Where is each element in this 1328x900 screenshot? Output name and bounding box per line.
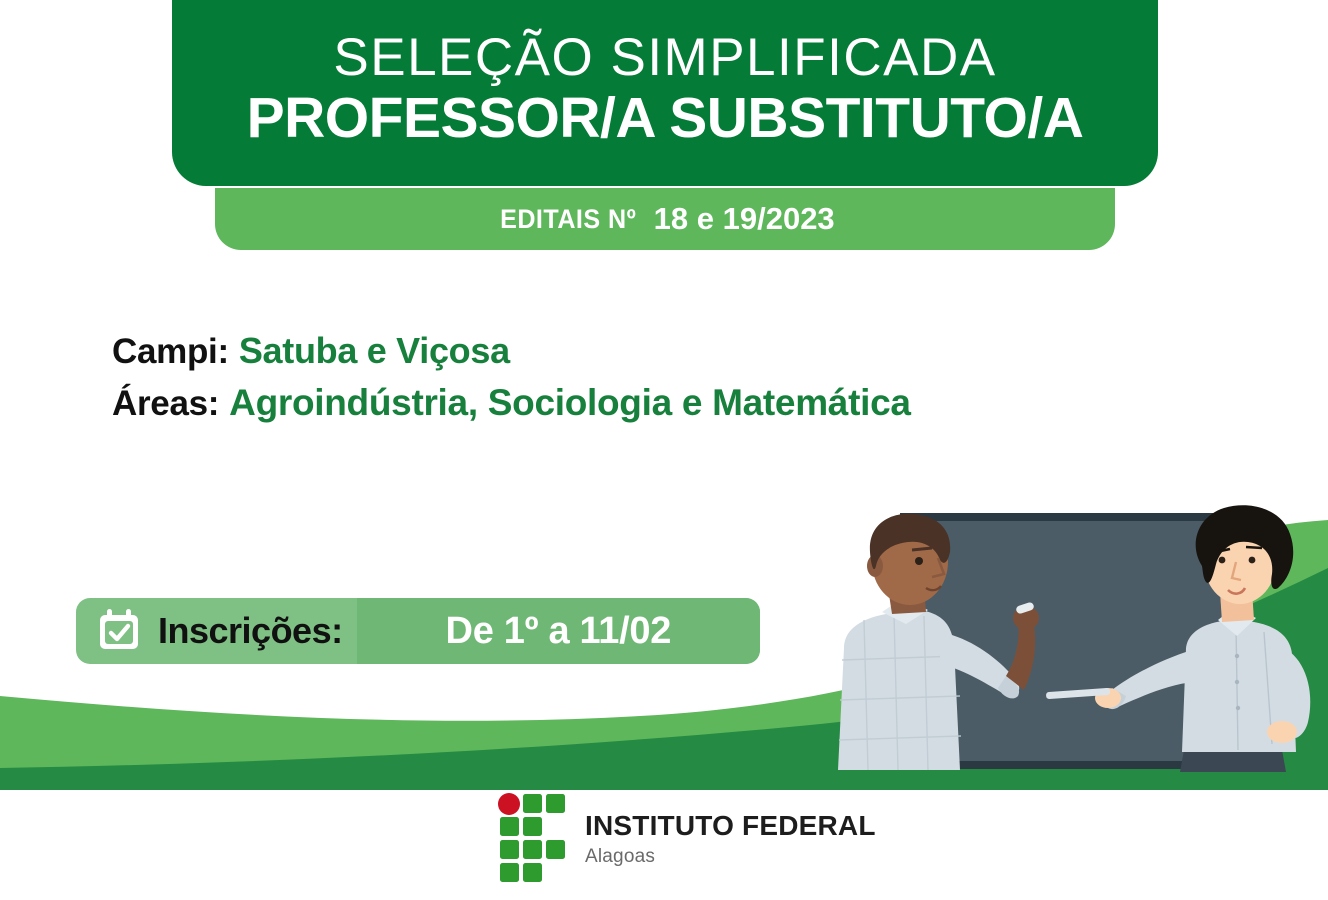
logo-red-dot (498, 793, 520, 815)
areas-label: Áreas: (112, 384, 219, 424)
female-hip-hand (1267, 721, 1297, 743)
editais-number: 18 e 19/2023 (654, 201, 835, 237)
logo-square (523, 840, 542, 859)
campi-row: Campi: Satuba e Viçosa (112, 330, 1112, 372)
male-eyebrow (912, 548, 932, 550)
female-eye-right (1249, 557, 1256, 564)
logo-title: INSTITUTO FEDERAL (585, 812, 876, 840)
editais-subtitle-banner: EDITAIS Nº 18 e 19/2023 (215, 188, 1115, 250)
header-banner-group: SELEÇÃO SIMPLIFICADA PROFESSOR/A SUBSTIT… (0, 0, 1328, 250)
registration-badge: Inscrições: De 1º a 11/02 (76, 598, 760, 664)
female-eye-left (1219, 557, 1226, 564)
banner-title-line2: PROFESSOR/A SUBSTITUTO/A (247, 87, 1084, 151)
registration-value-panel: De 1º a 11/02 (357, 598, 760, 664)
logo-square (500, 840, 519, 859)
banner-title-line1: SELEÇÃO SIMPLIFICADA (333, 29, 996, 86)
campi-label: Campi: (112, 332, 229, 372)
calendar-check-icon (96, 608, 142, 654)
logo-square (523, 817, 542, 836)
female-skirt (1180, 750, 1286, 772)
poster-root: SELEÇÃO SIMPLIFICADA PROFESSOR/A SUBSTIT… (0, 0, 1328, 900)
areas-value: Agroindústria, Sociologia e Matemática (229, 382, 910, 424)
logo-square (500, 863, 519, 882)
female-eyebrow-right (1246, 547, 1262, 548)
ifal-logo-mark (497, 793, 569, 885)
logo-square (546, 840, 565, 859)
logo-square (500, 817, 519, 836)
logo-subtitle: Alagoas (585, 847, 876, 866)
logo-square (523, 863, 542, 882)
registration-label: Inscrições: (158, 610, 343, 652)
logo-square (523, 794, 542, 813)
info-block: Campi: Satuba e Viçosa Áreas: Agroindúst… (112, 330, 1112, 424)
areas-row: Áreas: Agroindústria, Sociologia e Matem… (112, 382, 1112, 424)
logo-square (546, 794, 565, 813)
ifal-logo: INSTITUTO FEDERAL Alagoas (497, 793, 876, 885)
registration-dates: De 1º a 11/02 (446, 610, 672, 653)
male-eye (915, 557, 923, 565)
main-title-banner: SELEÇÃO SIMPLIFICADA PROFESSOR/A SUBSTIT… (172, 0, 1158, 186)
ifal-logo-text: INSTITUTO FEDERAL Alagoas (585, 812, 876, 866)
two-teachers-at-chalkboard-illustration (820, 500, 1328, 792)
editais-label: EDITAIS Nº (500, 204, 636, 235)
campi-value: Satuba e Viçosa (239, 330, 510, 372)
